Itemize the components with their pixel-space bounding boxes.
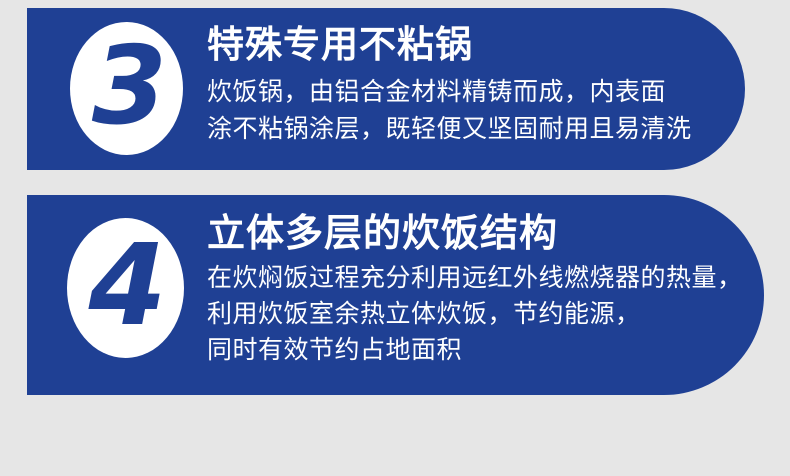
feature-panel-4-heading: 立体多层的炊饭结构 [207, 209, 777, 257]
feature-panel-3-body-line-1: 炊饭锅，由铝合金材料精铸而成，内表面 [207, 73, 727, 110]
step-number-badge-3-label: 3 [92, 33, 165, 141]
feature-panel-3-heading: 特殊专用不粘锅 [207, 22, 727, 68]
step-number-badge-3: 3 [70, 22, 183, 155]
feature-panel-4-content: 立体多层的炊饭结构 在炊焖饭过程充分利用远红外线燃烧器的热量， 利用炊饭室余热立… [207, 209, 777, 368]
feature-panel-4-body-line-2: 利用炊饭室余热立体炊饭，节约能源， [207, 296, 777, 332]
feature-panel-3: 3 特殊专用不粘锅 炊饭锅，由铝合金材料精铸而成，内表面 涂不粘锅涂层，既轻便又… [27, 8, 745, 170]
step-number-badge-4-label: 4 [89, 230, 165, 342]
feature-panel-4-body-line-3: 同时有效节约占地面积 [207, 332, 777, 368]
feature-panel-4-body-line-1: 在炊焖饭过程充分利用远红外线燃烧器的热量， [207, 260, 777, 296]
step-number-badge-4: 4 [67, 218, 184, 358]
feature-panel-3-body: 炊饭锅，由铝合金材料精铸而成，内表面 涂不粘锅涂层，既轻便又坚固耐用且易清洗 [207, 73, 727, 147]
feature-panel-3-body-line-2: 涂不粘锅涂层，既轻便又坚固耐用且易清洗 [207, 110, 727, 147]
feature-list-page: 3 特殊专用不粘锅 炊饭锅，由铝合金材料精铸而成，内表面 涂不粘锅涂层，既轻便又… [0, 0, 790, 476]
feature-panel-4-body: 在炊焖饭过程充分利用远红外线燃烧器的热量， 利用炊饭室余热立体炊饭，节约能源， … [207, 260, 777, 368]
feature-panel-3-content: 特殊专用不粘锅 炊饭锅，由铝合金材料精铸而成，内表面 涂不粘锅涂层，既轻便又坚固… [207, 22, 727, 147]
feature-panel-4: 4 立体多层的炊饭结构 在炊焖饭过程充分利用远红外线燃烧器的热量， 利用炊饭室余… [27, 195, 764, 395]
